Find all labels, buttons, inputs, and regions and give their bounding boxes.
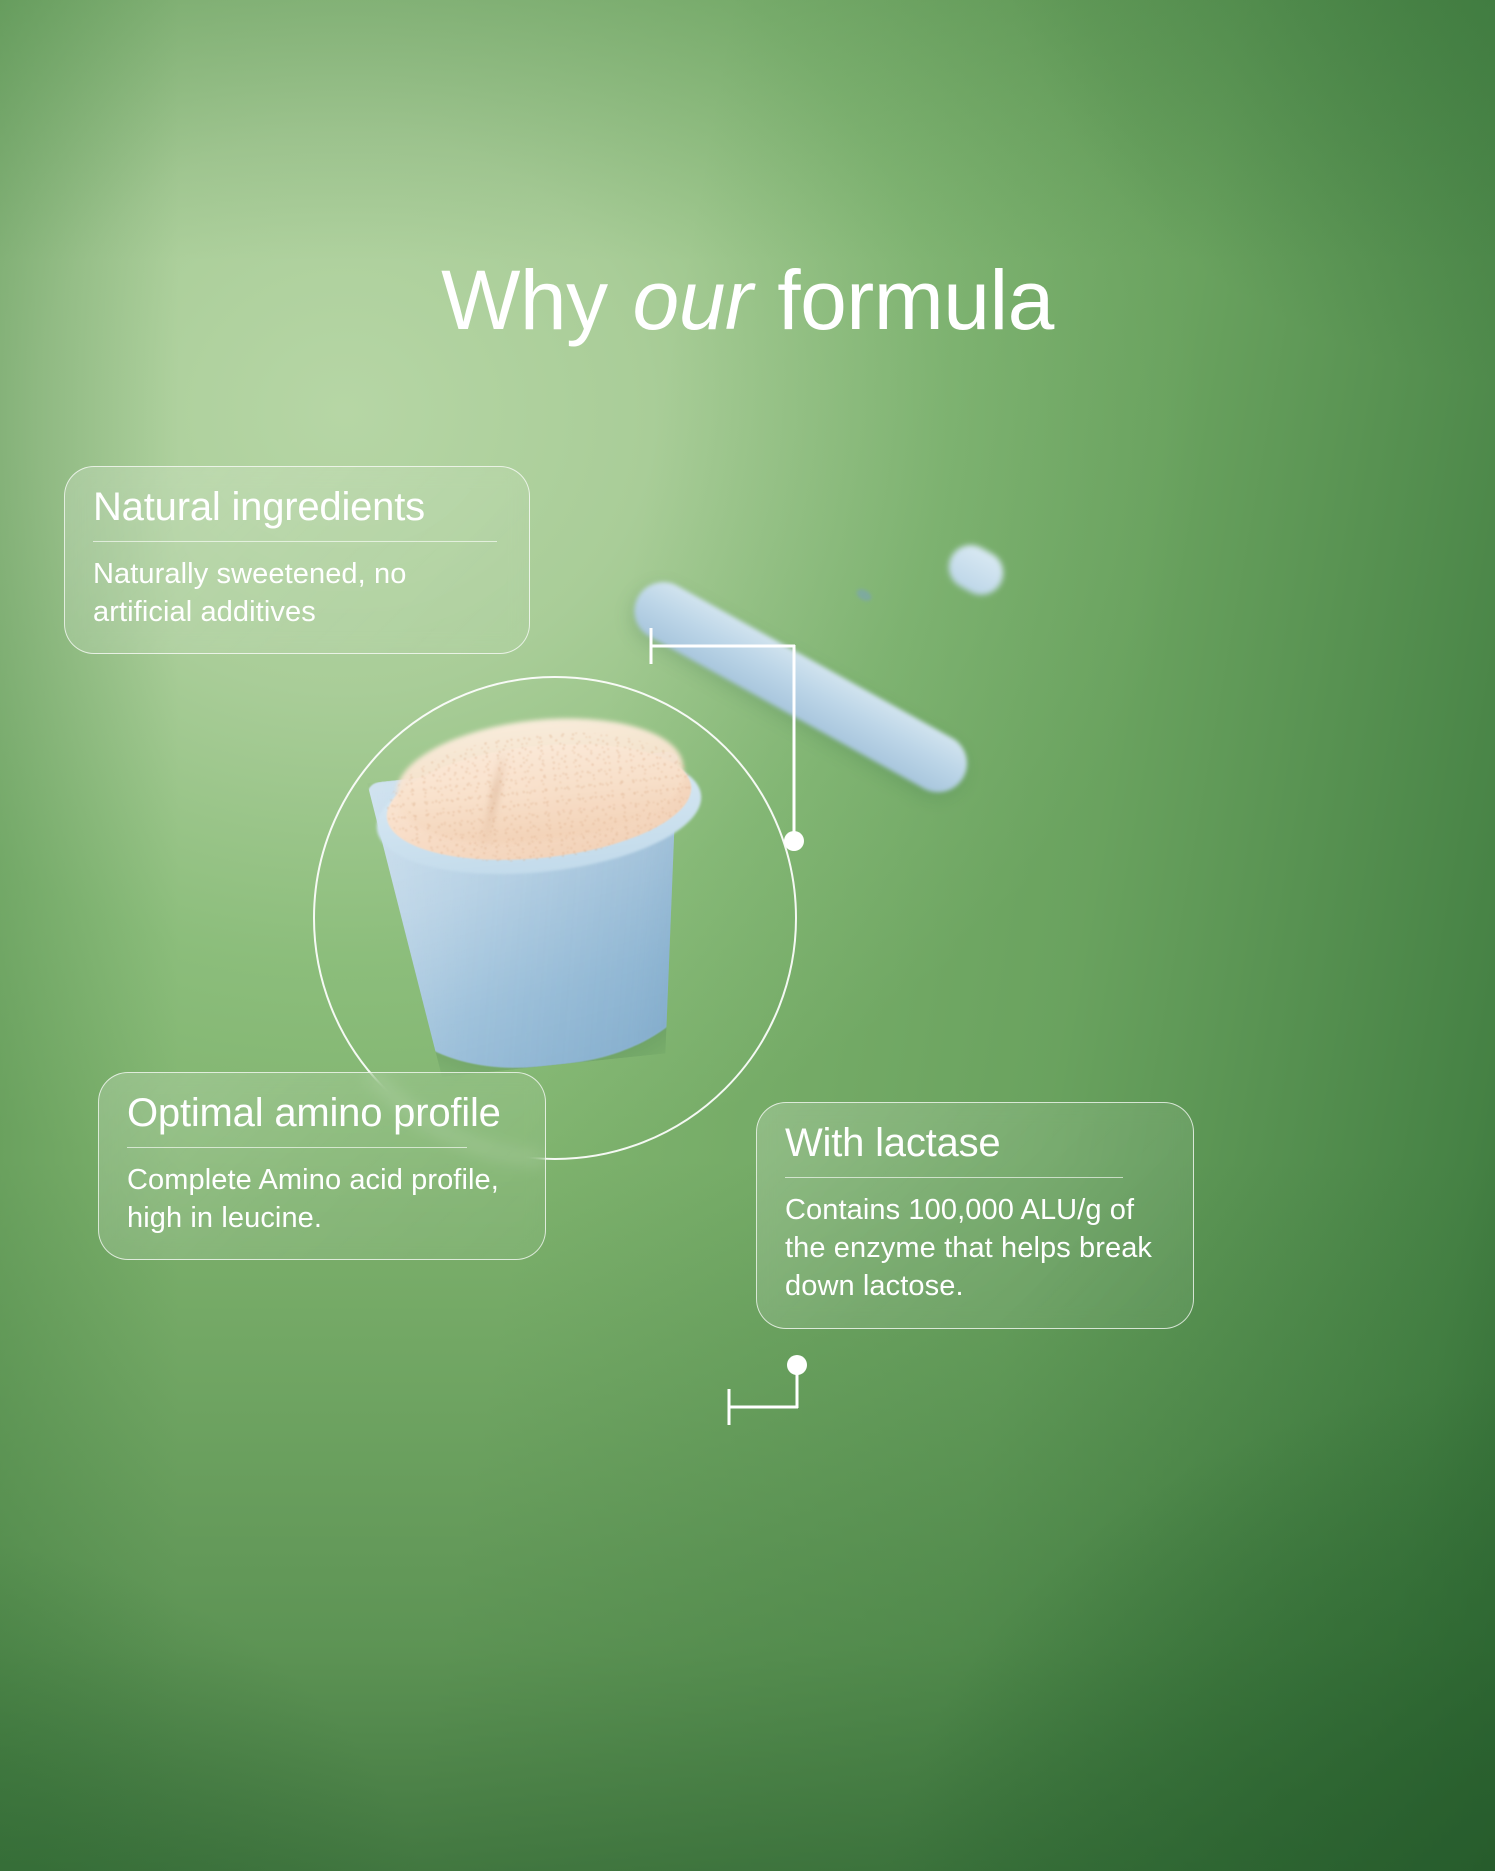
feature-card-divider	[785, 1177, 1123, 1178]
page-title-emphasis: our	[630, 253, 754, 347]
scoop-handle-marking	[855, 587, 874, 604]
feature-card-divider	[93, 541, 497, 542]
feature-card-body: Naturally sweetened, no artificial addit…	[93, 555, 501, 632]
feature-card-with-lactase[interactable]: With lactase Contains 100,000 ALU/g of t…	[756, 1102, 1194, 1329]
feature-card-optimal-amino-profile[interactable]: Optimal amino profile Complete Amino aci…	[98, 1072, 546, 1260]
feature-card-title: Optimal amino profile	[127, 1091, 517, 1136]
feature-card-natural-ingredients[interactable]: Natural ingredients Naturally sweetened,…	[64, 466, 530, 654]
feature-card-title: Natural ingredients	[93, 485, 501, 530]
feature-card-title: With lactase	[785, 1121, 1165, 1166]
feature-card-body: Complete Amino acid profile, high in leu…	[127, 1161, 517, 1238]
scoop-handle-tip	[941, 537, 1011, 603]
page-title-suffix: formula	[777, 253, 1054, 347]
feature-card-divider	[127, 1147, 467, 1148]
page-title-prefix: Why	[441, 253, 608, 347]
page-title: Why our formula	[0, 258, 1495, 342]
feature-card-body: Contains 100,000 ALU/g of the enzyme tha…	[785, 1191, 1165, 1306]
poster-canvas: Why our formula	[0, 0, 1495, 1871]
